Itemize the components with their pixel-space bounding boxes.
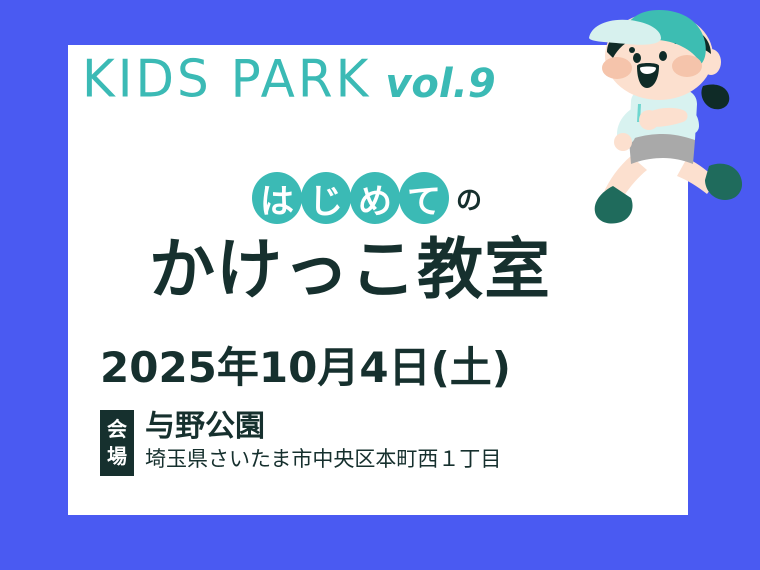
- venue-texts: 与野公園 埼玉県さいたま市中央区本町西１丁目: [145, 410, 501, 472]
- running-child-illustration: [583, 8, 760, 240]
- runner-eyebrow-dot: [629, 47, 635, 53]
- venue-label-badge: 会 場: [100, 410, 134, 476]
- runner-front-leg: [677, 158, 742, 200]
- subtitle-suffix: の: [456, 180, 482, 217]
- subtitle-badge-char-1: は: [252, 172, 302, 224]
- venue-label-char-2: 場: [107, 443, 127, 470]
- runner-ponytail: [701, 84, 729, 109]
- venue-address: 埼玉県さいたま市中央区本町西１丁目: [145, 446, 501, 472]
- event-date: 2025年10月4日(土): [100, 347, 511, 389]
- subtitle-badge-char-4: て: [399, 172, 449, 224]
- venue-block: 会 場 与野公園 埼玉県さいたま市中央区本町西１丁目: [100, 410, 501, 476]
- subtitle-badge-char-3: め: [350, 172, 400, 224]
- event-heading: かけっこ教室: [0, 235, 760, 304]
- subtitle-badge-char-2: じ: [301, 172, 351, 224]
- runner-back-leg: [595, 156, 647, 224]
- venue-label-char-1: 会: [107, 416, 127, 443]
- title-main-text: KIDS PARK: [82, 53, 371, 105]
- title-volume-text: vol.9: [385, 64, 495, 104]
- runner-cheek-left: [602, 57, 632, 79]
- runner-cheek-right: [672, 55, 702, 77]
- runner-eye-left: [633, 53, 641, 63]
- poster-title: KIDS PARK vol.9: [82, 55, 496, 105]
- venue-name: 与野公園: [145, 410, 501, 444]
- subtitle-badge-row: は じ め て の: [252, 172, 482, 224]
- runner-eye-right: [659, 51, 667, 61]
- event-poster: KIDS PARK vol.9 は じ め て の かけっこ教室 2025年10…: [0, 0, 760, 570]
